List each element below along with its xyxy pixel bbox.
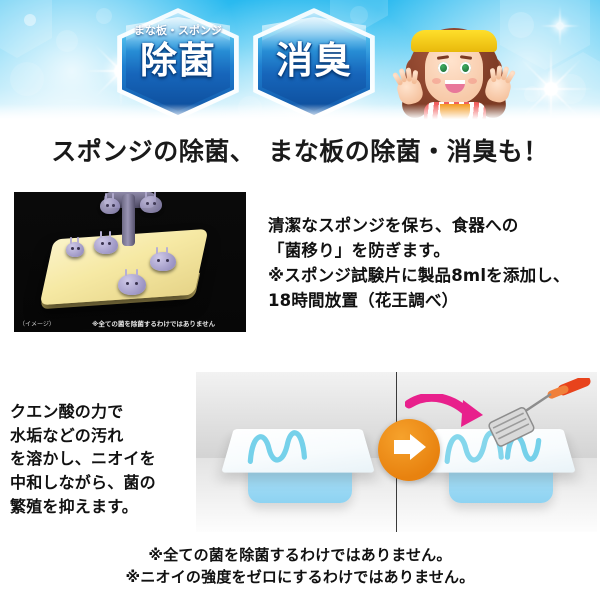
- bokeh-dot: [24, 14, 36, 26]
- bokeh-dot: [56, 30, 78, 52]
- footnote-line: ※ニオイの強度をゼロにするわけではありません。: [0, 567, 600, 589]
- photo-caption-left: （イメージ）: [19, 319, 55, 328]
- banner-bottom-fade: [0, 104, 600, 122]
- germ-character: [118, 274, 146, 295]
- before-after-panels: [196, 372, 597, 532]
- spray-bottle-nozzle: [485, 378, 595, 456]
- description-line: 18時間放置（花王調べ）: [268, 288, 594, 313]
- hexagon-watermark: [0, 0, 52, 58]
- bokeh-dot: [524, 86, 540, 102]
- cheek-right: [468, 78, 477, 84]
- bokeh-dot: [96, 8, 112, 24]
- badge-label: 消臭: [253, 42, 375, 79]
- spray-nozzle: [122, 194, 135, 246]
- eye-left: [438, 62, 449, 74]
- germ-character: [140, 196, 162, 213]
- germ-character: [100, 198, 120, 214]
- description-line: ※スポンジ試験片に製品8mlを添加し、: [268, 263, 594, 288]
- description-line: 清潔なスポンジを保ち、食器への: [268, 213, 594, 238]
- header-banner: まな板・スポンジ 除菌 消臭: [0, 0, 600, 122]
- badge-sublabel: まな板・スポンジ: [117, 22, 239, 38]
- panel-before: [196, 372, 396, 532]
- bokeh-dot: [508, 12, 534, 38]
- description-line: 繁殖を抑えます。: [10, 495, 192, 519]
- photo-caption-right: ※全ての菌を除菌するわけではありません: [92, 318, 215, 328]
- page-title: スポンジの除菌、 まな板の除菌・消臭も！: [0, 132, 600, 168]
- sponge-description: 清潔なスポンジを保ち、食器への 「菌移り」を防ぎます。 ※スポンジ試験片に製品8…: [268, 213, 594, 313]
- cheek-left: [432, 78, 441, 84]
- footnote-line: ※全ての菌を除菌するわけではありません。: [0, 545, 600, 567]
- description-line: 「菌移り」を防ぎます。: [268, 238, 594, 263]
- bokeh-dot: [10, 62, 44, 96]
- germ-character: [94, 236, 118, 254]
- description-line: 水垢などの汚れ: [10, 424, 192, 448]
- germ-character: [150, 252, 176, 271]
- description-line: を溶かし、ニオイを: [10, 447, 192, 471]
- advertisement-page: まな板・スポンジ 除菌 消臭: [0, 0, 600, 600]
- citric-acid-description: クエン酸の力で 水垢などの汚れ を溶かし、ニオイを 中和しながら、菌の 繁殖を抑…: [10, 400, 192, 518]
- headband: [411, 30, 497, 52]
- germ-character: [66, 242, 84, 257]
- description-line: 中和しながら、菌の: [10, 471, 192, 495]
- bokeh-dot: [556, 74, 586, 104]
- stain-squiggle: [236, 426, 352, 468]
- badge-label: 除菌: [117, 42, 239, 79]
- magenta-arrow-icon: [405, 394, 495, 438]
- description-line: クエン酸の力で: [10, 400, 192, 424]
- sponge-photo: （イメージ） ※全ての菌を除菌するわけではありません: [14, 192, 246, 332]
- footnotes: ※全ての菌を除菌するわけではありません。 ※ニオイの強度をゼロにするわけではあり…: [0, 545, 600, 589]
- eye-right: [460, 62, 471, 74]
